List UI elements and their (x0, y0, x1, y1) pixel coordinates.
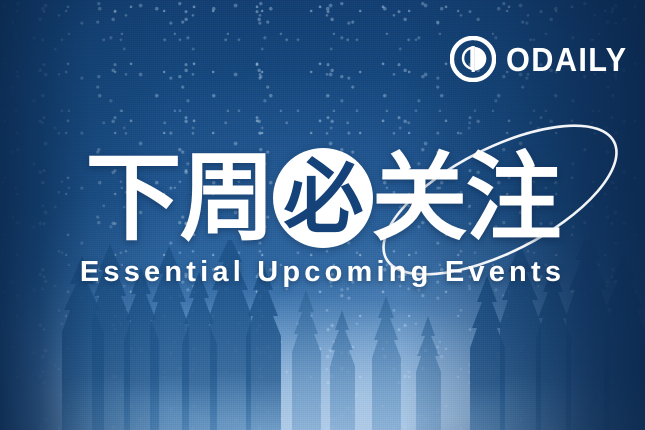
odaily-logo[interactable]: ODAILY (450, 36, 637, 82)
page-subtitle: Essential Upcoming Events (0, 252, 645, 292)
odaily-circle-mark (450, 36, 496, 82)
title-char-5: 注 (466, 150, 560, 246)
page-title: 下 周 必 关 注 (0, 148, 645, 248)
odaily-wordmark: ODAILY (506, 43, 627, 76)
title-char-2: 周 (180, 150, 274, 246)
title-char-3-badge: 必 (273, 148, 373, 248)
title-char-1: 下 (86, 150, 180, 246)
banner-canvas: ODAILY 下 周 必 关 注 Essential Upcoming Even… (0, 0, 645, 430)
title-char-4: 关 (372, 150, 466, 246)
